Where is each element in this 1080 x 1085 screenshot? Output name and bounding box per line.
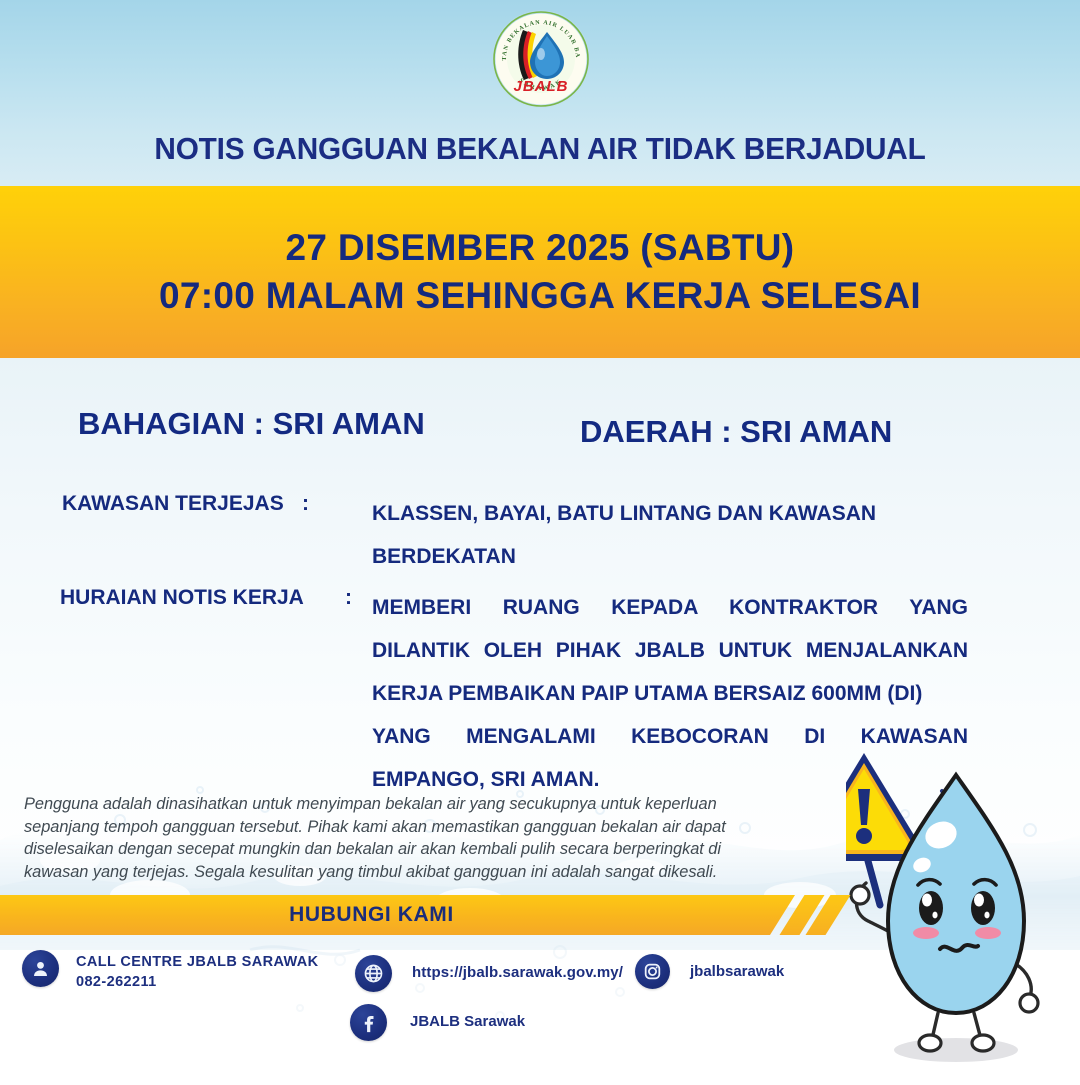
work-description-line-3: KERJA PEMBAIKAN PAIP UTAMA BERSAIZ 600MM…: [372, 672, 968, 715]
affected-areas-line-2: BERDEKATAN: [372, 545, 516, 568]
work-description-line-1: MEMBERI RUANG KEPADA KONTRAKTOR YANG: [372, 586, 968, 629]
contact-banner-title: HUBUNGI KAMI: [289, 903, 454, 927]
jbalb-logo: JABATAN BEKALAN AIR LUAR BANDAR SARAWAK …: [490, 8, 592, 110]
work-description-label: HURAIAN NOTIS KERJA: [60, 586, 304, 610]
affected-areas-value: KLASSEN, BAYAI, BATU LINTANG DAN KAWASAN…: [372, 492, 972, 578]
affected-areas-label: KAWASAN TERJEJAS: [62, 492, 284, 516]
date-banner: 27 DISEMBER 2025 (SABTU) 07:00 MALAM SEH…: [0, 186, 1080, 358]
call-centre-name: CALL CENTRE JBALB SARAWAK: [76, 954, 319, 970]
instagram-icon[interactable]: [635, 954, 670, 989]
facebook-icon[interactable]: [350, 1004, 387, 1041]
affected-areas-colon: :: [302, 492, 309, 516]
date-line: 27 DISEMBER 2025 (SABTU): [286, 227, 795, 269]
website-link[interactable]: https://jbalb.sarawak.gov.my/: [412, 964, 623, 981]
notice-poster: JABATAN BEKALAN AIR LUAR BANDAR SARAWAK …: [0, 0, 1080, 1080]
instagram-handle[interactable]: jbalbsarawak: [690, 963, 784, 980]
affected-areas-line-1: KLASSEN, BAYAI, BATU LINTANG DAN KAWASAN: [372, 502, 876, 525]
facebook-handle[interactable]: JBALB Sarawak: [410, 1013, 525, 1030]
contact-banner: HUBUNGI KAMI: [0, 895, 795, 935]
svg-text:JBALB: JBALB: [513, 78, 568, 95]
globe-icon[interactable]: [355, 955, 392, 992]
district-label: DAERAH : SRI AMAN: [580, 414, 892, 450]
page-title: NOTIS GANGGUAN BEKALAN AIR TIDAK BERJADU…: [22, 131, 1059, 167]
work-description-line-2: DILANTIK OLEH PIHAK JBALB UNTUK MENJALAN…: [372, 629, 968, 672]
division-label: BAHAGIAN : SRI AMAN: [78, 406, 425, 442]
work-description-colon: :: [345, 586, 352, 610]
time-line: 07:00 MALAM SEHINGGA KERJA SELESAI: [159, 275, 921, 317]
water-droplet-mascot: [846, 745, 1080, 1080]
advisory-paragraph: Pengguna adalah dinasihatkan untuk menyi…: [24, 793, 762, 883]
call-centre-number[interactable]: 082-262211: [76, 974, 157, 990]
person-icon: [22, 950, 59, 987]
